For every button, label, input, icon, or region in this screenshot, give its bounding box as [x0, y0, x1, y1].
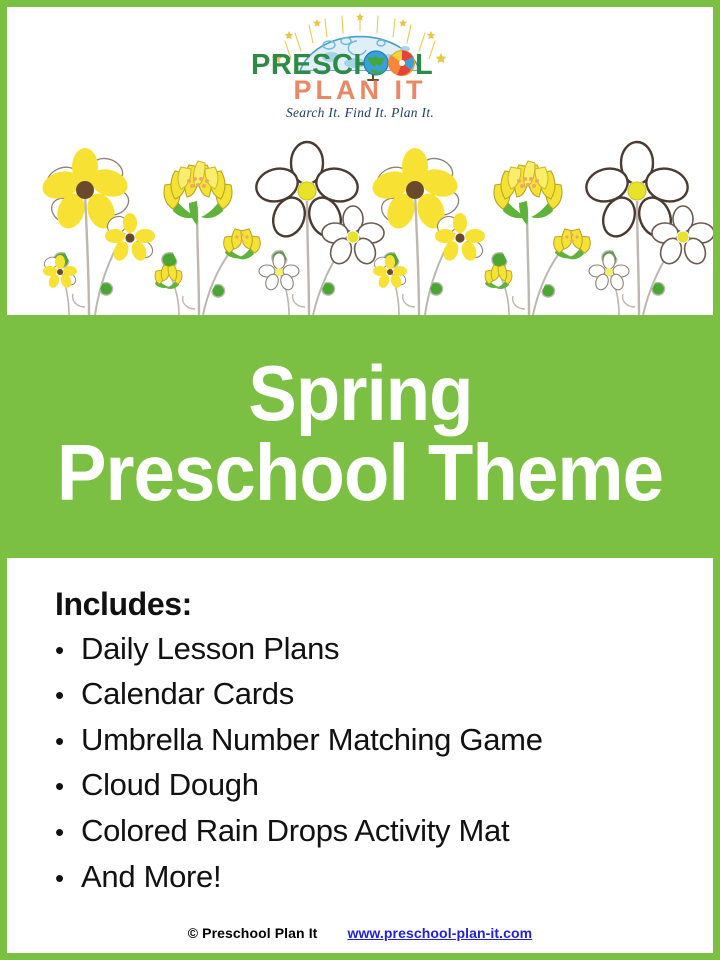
- flower-yellow-daisy-2: [369, 148, 486, 315]
- beach-ball-icon: [388, 50, 414, 75]
- copyright-text: © Preschool Plan It: [188, 925, 318, 941]
- includes-list: • Daily Lesson Plans • Calendar Cards • …: [55, 626, 713, 899]
- bullet-icon: •: [55, 865, 81, 891]
- list-item: • Daily Lesson Plans: [55, 626, 713, 672]
- website-link[interactable]: www.preschool-plan-it.com: [347, 925, 532, 941]
- list-item: • Colored Rain Drops Activity Mat: [55, 808, 713, 854]
- bullet-icon: •: [55, 819, 81, 845]
- page-title-line1: Spring: [248, 355, 472, 431]
- list-item-label: And More!: [81, 854, 221, 900]
- includes-section: Includes: • Daily Lesson Plans • Calenda…: [7, 558, 713, 899]
- bullet-icon: •: [55, 773, 81, 799]
- title-band: Spring Preschool Theme: [7, 315, 713, 558]
- list-item-label: Calendar Cards: [81, 671, 294, 717]
- list-item: • And More!: [55, 854, 713, 900]
- includes-heading: Includes:: [55, 586, 713, 624]
- flower-white-outline-1: [252, 142, 384, 315]
- flower-ruffled-bloom-2: [485, 161, 590, 315]
- list-item-label: Colored Rain Drops Activity Mat: [81, 808, 509, 854]
- preschool-plan-it-logo: PRESCH L PLAN IT Search I: [245, 13, 475, 135]
- printable-page: PRESCH L PLAN IT Search I: [0, 0, 720, 960]
- brand-tagline: Search It. Find It. Plan It.: [245, 105, 475, 121]
- flower-yellow-daisy-1: [39, 148, 156, 315]
- flower-ruffled-bloom-1: [155, 161, 260, 315]
- page-title-line2: Preschool Theme: [57, 434, 663, 512]
- list-item-label: Cloud Dough: [81, 762, 259, 808]
- brand-wordmark-planit: PLAN IT: [245, 75, 475, 105]
- page-footer: © Preschool Plan It www.preschool-plan-i…: [7, 924, 713, 941]
- bullet-icon: •: [55, 682, 81, 708]
- bullet-icon: •: [55, 728, 81, 754]
- flowers-illustration: [7, 137, 713, 315]
- flower-white-outline-2: [582, 142, 713, 315]
- spring-flowers-banner: [7, 137, 713, 315]
- bullet-icon: •: [55, 637, 81, 663]
- list-item: • Calendar Cards: [55, 671, 713, 717]
- list-item-label: Daily Lesson Plans: [81, 626, 339, 672]
- list-item: • Cloud Dough: [55, 762, 713, 808]
- list-item: • Umbrella Number Matching Game: [55, 717, 713, 763]
- list-item-label: Umbrella Number Matching Game: [81, 717, 543, 763]
- page-header: PRESCH L PLAN IT Search I: [7, 7, 713, 137]
